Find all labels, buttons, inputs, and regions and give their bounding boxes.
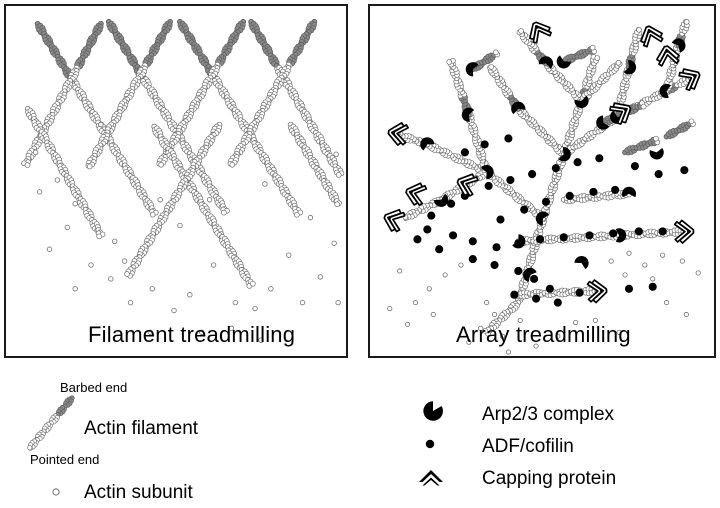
figure-root: Filament treadmilling Array treadmilling… [0,0,720,508]
adf-cofilin [532,295,540,303]
free-actin-subunit [336,300,341,305]
adf-cofilin [595,154,603,162]
free-actin-subunit [427,287,431,291]
actin-filament [157,19,246,167]
free-actin-subunit [253,306,258,311]
actin-subunit [637,27,642,32]
free-actin-subunit [397,269,401,273]
free-actin-subunit [660,253,664,257]
adf-cofilin [631,162,639,170]
legend-arp23-label: Arp2/3 complex [482,404,614,426]
free-actin-subunit [609,259,613,263]
adf-cofilin [574,158,582,166]
legend-actin-subunit-label: Actin subunit [84,482,193,504]
actin-subunit [616,60,621,65]
adf-cofilin [552,164,560,172]
actin-filament [106,19,229,215]
adf-cofilin [481,140,489,148]
free-actin-subunit [211,263,216,268]
adf-cofilin [490,261,498,269]
actin-subunit [590,45,595,50]
adf-cofilin [413,235,421,243]
free-actin-subunit [188,292,193,297]
arp23-complex [574,253,592,269]
legend-proteins: Arp2/3 complex ADF/cofilin Capping prote… [368,360,720,508]
adf-cofilin [427,212,435,220]
free-actin-subunit [122,259,127,264]
legend-adf-cofilin-label: ADF/cofilin [482,436,574,458]
adf-cofilin [528,170,536,178]
adf-cofilin [514,239,522,247]
free-actin-subunit [178,223,183,228]
free-actin-subunit [405,322,409,326]
actin-subunit [335,202,340,207]
adf-cofilin [542,198,550,206]
free-actin-subunit [680,259,684,263]
free-actin-subunit [73,201,78,206]
free-actin-subunit [89,263,94,268]
free-actin-subunit [684,312,688,316]
free-actin-subunit [263,182,268,187]
adf-cofilin [492,243,500,251]
actin-subunit [447,60,452,65]
capping-protein [381,206,406,234]
adf-cofilin [560,233,568,241]
adf-cofilin [435,245,443,253]
actin-filament [86,19,173,169]
filament-treadmilling-illustration [6,6,346,356]
free-actin-subunit [506,350,510,354]
adf-cofilin [585,231,593,239]
free-actin-subunit [150,286,155,291]
adf-cofilin [659,227,667,235]
adf-cofilin [485,182,493,190]
actin-subunit [595,56,600,61]
actin-subunit [489,64,494,69]
free-actin-subunit [112,239,117,244]
free-actin-subunit [696,271,700,275]
actin-subunit [28,446,32,450]
legend-actin-filament-label: Actin filament [84,418,198,440]
free-actin-subunit [413,300,417,304]
arp23-complex-icon [420,398,446,424]
panel-title-left: Filament treadmilling [88,322,295,348]
adf-cofilin [496,216,504,224]
free-actin-subunit [484,300,488,304]
free-actin-subunit [108,277,113,282]
adf-cofilin [609,229,617,237]
actin-subunit [493,50,498,55]
adf-cofilin [506,176,514,184]
actin-subunit [294,212,299,217]
free-actin-subunit [207,198,212,203]
panel-filament-treadmilling: Filament treadmilling [4,4,348,358]
adf-cofilin [514,267,522,275]
actin-filament [516,106,566,156]
actin-subunit [641,104,646,109]
actin-filament [664,119,695,139]
free-actin-subunit [332,241,337,246]
free-actin-subunit [33,150,38,155]
actin-subunit [97,234,102,239]
free-actin-subunit [269,286,274,291]
actin-filament [28,396,75,451]
free-actin-subunit [47,247,52,252]
free-actin-subunit [172,308,177,313]
free-actin-subunit [73,286,78,291]
free-actin-subunit [627,251,631,255]
free-actin-subunit [388,306,392,310]
actin-subunit [654,136,659,141]
free-actin-subunit [37,190,42,195]
free-actin-subunit [334,152,339,157]
adf-cofilin [536,235,544,243]
free-actin-subunit [99,122,104,127]
adf-cofilin [449,231,457,239]
free-actin-subunit [286,253,291,258]
capping-protein-icon [416,464,446,490]
actin-subunit [689,119,694,124]
free-actin-subunit [431,312,435,316]
adf-cofilin [469,237,477,245]
capping-protein [403,180,427,207]
adf-cofilin [649,283,657,291]
actin-filament [540,151,568,221]
actin-subunit [519,29,524,34]
adf-cofilin [576,289,584,297]
legend-actin: Barbed end Pointed end Actin filament Ac… [0,360,352,508]
arp23-complex [649,148,665,161]
actin-subunit [159,162,164,167]
adf-cofilin [566,192,574,200]
actin-subunit [150,212,155,217]
adf-cofilin [510,291,518,299]
adf-cofilin [461,148,469,156]
adf-cofilin-icon [420,434,440,454]
adf-cofilin [447,200,455,208]
adf-cofilin [530,275,538,283]
actin-subunit-icon [48,484,64,500]
free-actin-subunit [318,275,323,280]
adf-cofilin [520,206,528,214]
actin-subunit [25,163,30,168]
actin-subunit [125,272,130,277]
actin-filament [516,287,600,299]
adf-cofilin [423,225,431,233]
free-actin-subunit [308,215,313,220]
free-actin-subunit [492,312,496,316]
free-actin-subunit [128,300,133,305]
adf-cofilin [611,186,619,194]
adf-cofilin [635,227,643,235]
actin-subunit [250,281,255,286]
free-actin-subunit [300,300,305,305]
free-actin-subunit [233,300,238,305]
panel-array-treadmilling: Array treadmilling [368,4,716,358]
adf-cofilin [504,134,512,142]
legend-pointed-end-label: Pointed end [30,452,99,467]
adf-cofilin [680,166,688,174]
adf-cofilin [625,285,633,293]
free-actin-subunit [643,263,647,267]
adf-cofilin [546,285,554,293]
actin-filament [516,231,622,245]
adf-cofilin [554,299,562,307]
free-actin-subunit [158,198,163,203]
adf-cofilin [655,170,663,178]
actin-filament-icon [22,392,80,454]
free-actin-subunit [459,263,463,267]
actin-subunit [230,162,235,167]
free-actin-subunit [623,273,627,277]
actin-subunit [87,164,92,169]
legend-capping-protein-label: Capping protein [482,468,616,490]
actin-filament [22,21,104,167]
free-actin-subunit [664,300,668,304]
free-actin-subunit [443,273,447,277]
actin-subunit [684,19,689,24]
actin-subunit [336,172,341,177]
adf-cofilin [469,255,477,263]
free-actin-subunit [651,277,655,281]
free-actin-subunit [55,178,60,183]
actin-filament [25,106,105,238]
array-treadmilling-illustration [370,6,714,356]
panel-title-right: Array treadmilling [456,322,631,348]
actin-subunit [221,210,226,215]
adf-cofilin [589,188,597,196]
free-actin-subunit [65,225,70,230]
